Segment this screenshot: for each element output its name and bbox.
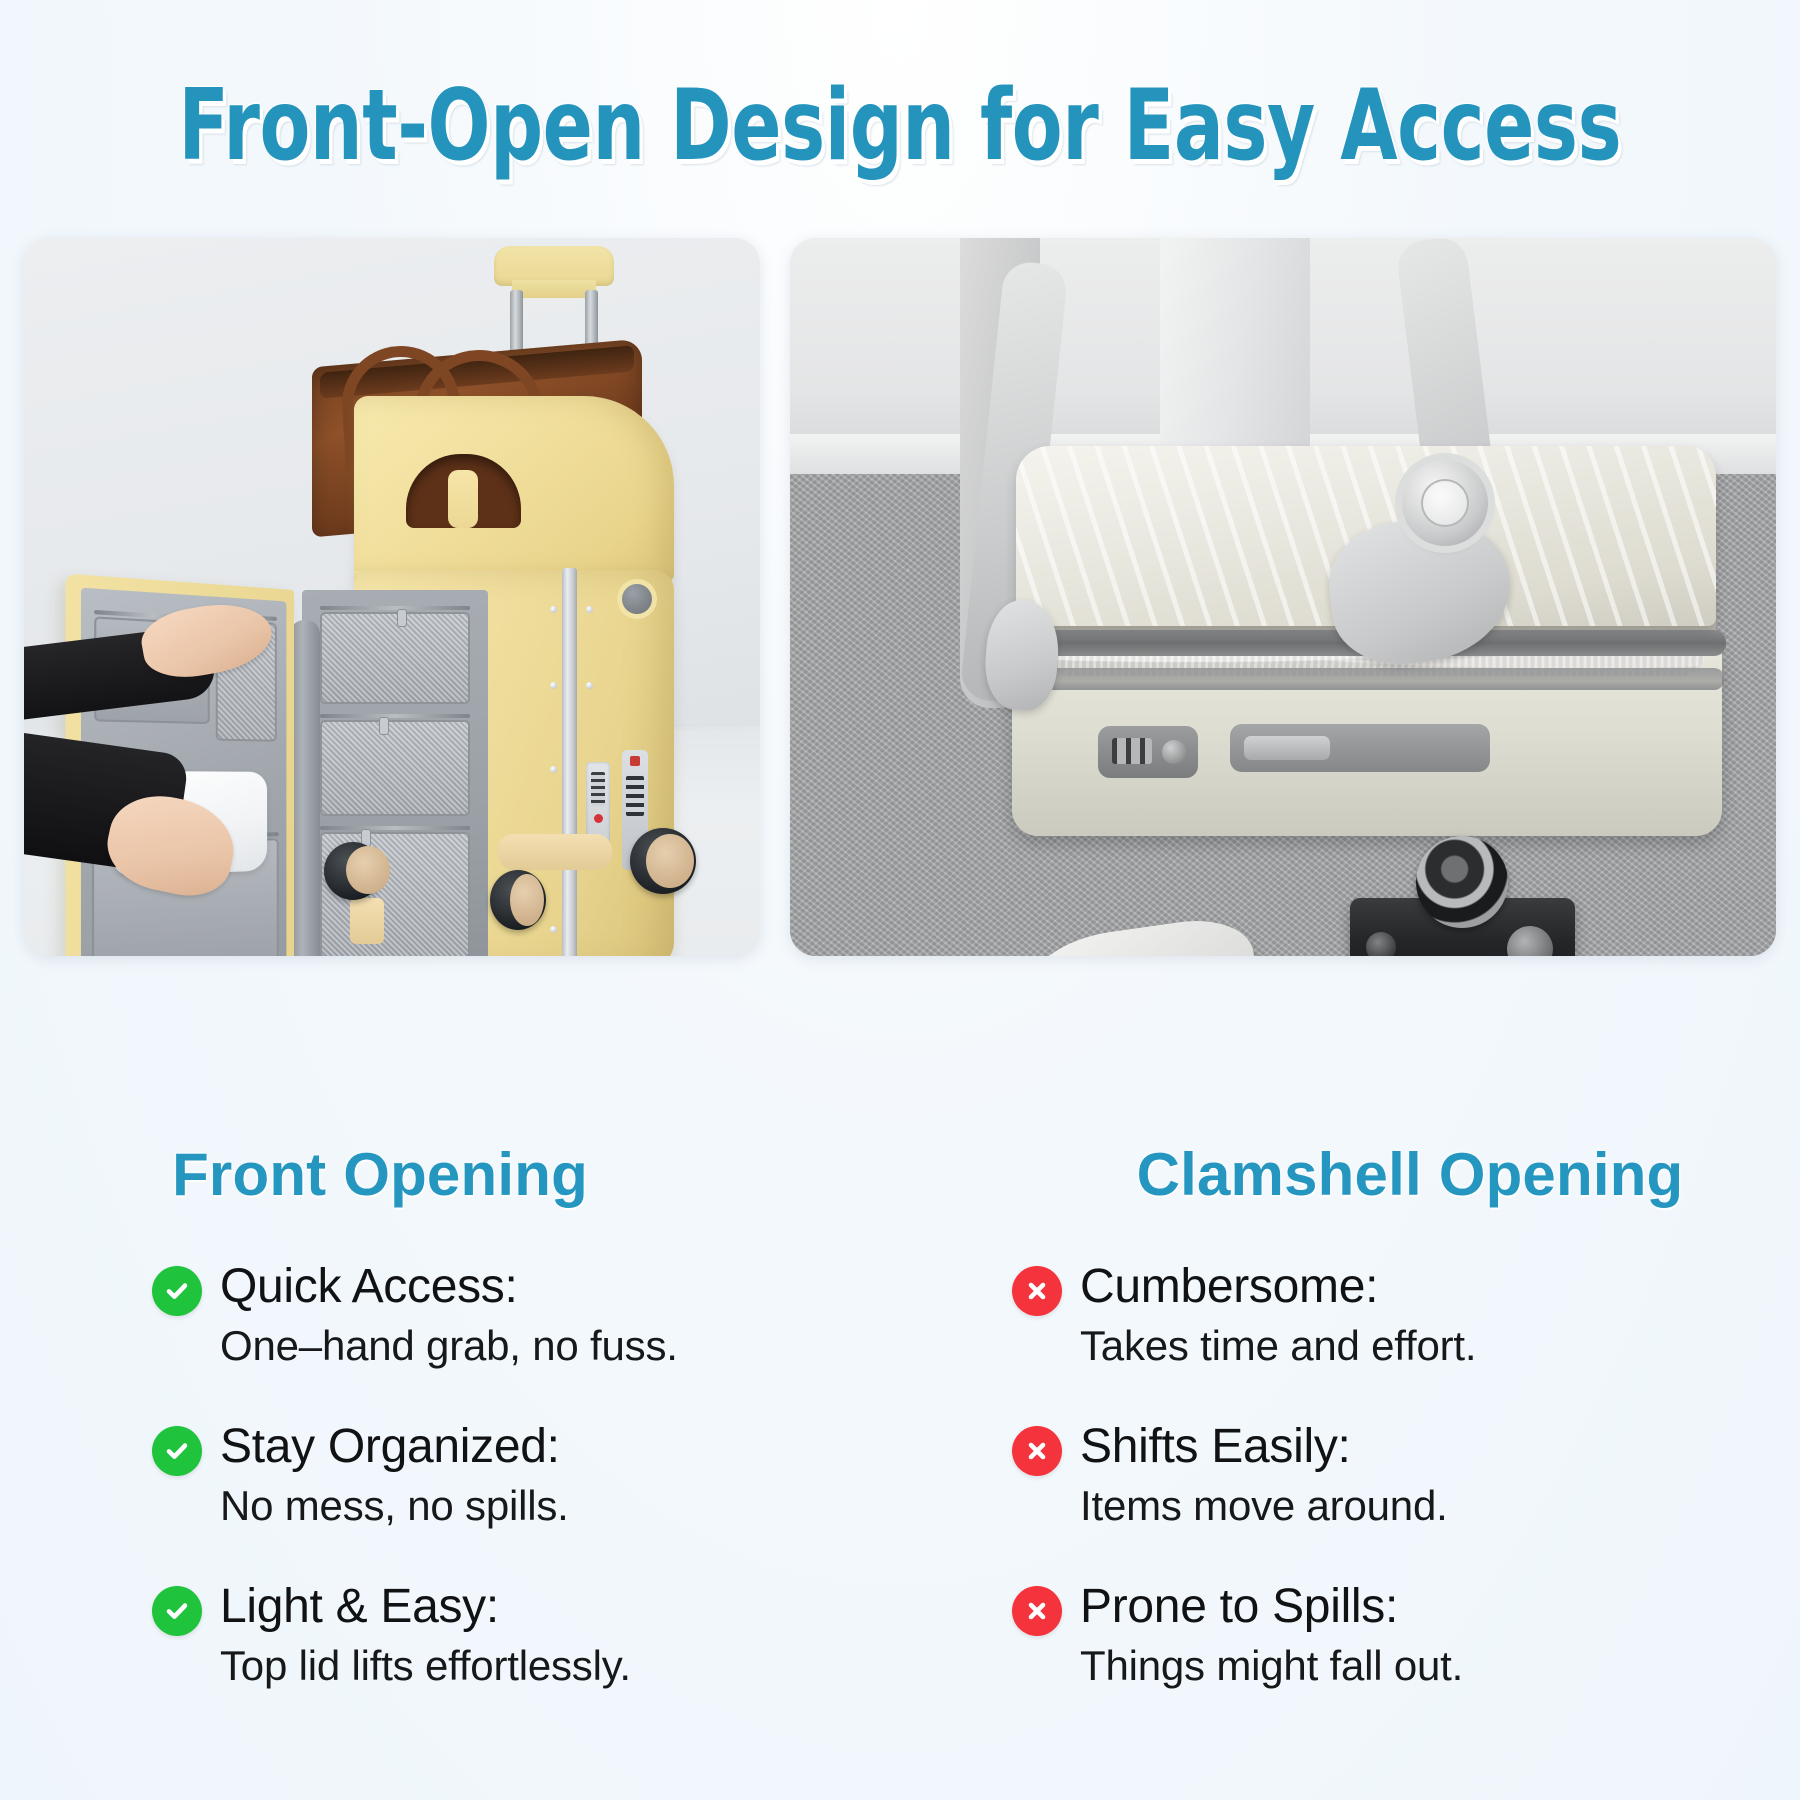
list-item: Quick Access: One–hand grab, no fuss. [152,1258,900,1374]
wheel-mount [350,898,384,944]
zipper [320,714,470,718]
list-item: Light & Easy: Top lid lifts effortlessly… [152,1578,900,1694]
photo-row [24,238,1776,956]
rolled-pouch [290,620,320,956]
handle-grip [494,246,614,286]
list-item-label: Light & Easy: [220,1578,631,1636]
check-circle-icon [152,1426,202,1476]
list-item-label: Prone to Spills: [1080,1578,1463,1636]
list-item-detail: One–hand grab, no fuss. [220,1318,678,1374]
list-item-detail: Top lid lifts effortlessly. [220,1638,631,1694]
pro-list: Quick Access: One–hand grab, no fuss. St… [0,1258,900,1738]
zipper [320,606,470,610]
side-button [622,584,652,614]
list-item-label: Shifts Easily: [1080,1418,1448,1476]
zipper-track-lower [1012,668,1724,690]
interior-organizer-panel [302,590,488,956]
list-item-text: Shifts Easily: Items move around. [1080,1418,1448,1534]
camera-dial [1507,926,1553,956]
wristwatch [1402,460,1488,546]
mesh-pocket [320,720,470,816]
list-item-text: Light & Easy: Top lid lifts effortlessly… [220,1578,631,1694]
x-circle-icon [1012,1266,1062,1316]
list-item-label: Stay Organized: [220,1418,569,1476]
x-circle-icon [1012,1586,1062,1636]
rivet [550,766,557,773]
check-circle-icon [152,1266,202,1316]
rivet [586,606,593,613]
lid-cutout [406,454,521,528]
heading-front-opening: Front Opening [172,1140,588,1209]
list-item-text: Quick Access: One–hand grab, no fuss. [220,1258,678,1374]
check-circle-icon [152,1586,202,1636]
list-item-label: Cumbersome: [1080,1258,1476,1316]
wheel-hub [346,846,390,894]
list-item-detail: Takes time and effort. [1080,1318,1476,1374]
camera-viewfinder [1366,932,1396,956]
list-item: Stay Organized: No mess, no spills. [152,1418,900,1534]
suitcase-top-lid [354,396,674,581]
list-item: Shifts Easily: Items move around. [1012,1418,1800,1534]
clamshell-suitcase-photo [790,238,1776,956]
list-item: Prone to Spills: Things might fall out. [1012,1578,1800,1694]
comparison-lists: Quick Access: One–hand grab, no fuss. St… [0,1258,1800,1738]
heading-col-clamshell-opening: Clamshell Opening [900,1140,1800,1230]
page-title: Front-Open Design for Easy Access [179,74,1622,178]
x-circle-icon [1012,1426,1062,1476]
heading-clamshell-opening: Clamshell Opening [1137,1140,1684,1209]
list-item-detail: Items move around. [1080,1478,1448,1534]
section-headings-row: Front Opening Clamshell Opening [0,1140,1800,1230]
side-carry-handle [1230,724,1490,772]
rivet [586,682,593,689]
list-item-detail: No mess, no spills. [220,1478,569,1534]
vintage-camera [1350,898,1575,956]
wheel-hub [646,834,694,888]
zipper-pull [398,610,406,626]
rivet [550,682,557,689]
list-item-label: Quick Access: [220,1258,678,1316]
infographic-page: Front-Open Design for Easy Access [0,0,1800,1800]
list-item: Cumbersome: Takes time and effort. [1012,1258,1800,1374]
list-item-text: Stay Organized: No mess, no spills. [220,1418,569,1534]
camera-lens [1416,836,1508,928]
rivet [550,606,557,613]
rivet [550,926,557,933]
lock-indicator [594,814,603,823]
zipper-pull [380,718,388,734]
heading-col-front-opening: Front Opening [0,1140,900,1230]
list-item-text: Prone to Spills: Things might fall out. [1080,1578,1463,1694]
con-list: Cumbersome: Takes time and effort. Shift… [900,1258,1800,1738]
list-item-text: Cumbersome: Takes time and effort. [1080,1258,1476,1374]
wheel-mount [498,834,612,870]
aluminum-frame-rail [562,568,577,956]
list-item-detail: Things might fall out. [1080,1638,1463,1694]
wheel-hub [510,874,544,926]
zipper [320,826,470,830]
mesh-pocket [320,612,470,704]
front-opening-suitcase-photo [24,238,760,956]
page-title-container: Front-Open Design for Easy Access [0,74,1800,184]
combination-lock [1098,726,1198,778]
